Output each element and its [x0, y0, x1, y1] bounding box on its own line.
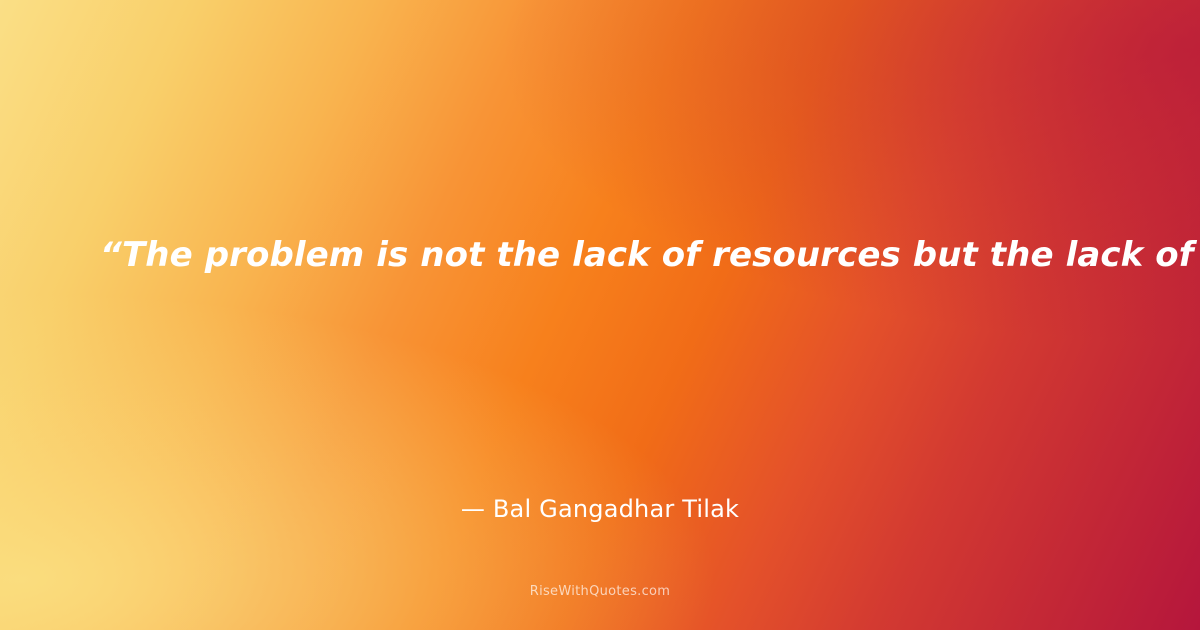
site-watermark: RiseWithQuotes.com — [0, 583, 1200, 601]
quote-card: “The problem is not the lack of resource… — [0, 0, 1200, 630]
quote-content: “The problem is not the lack of resource… — [0, 0, 1200, 630]
quote-text: “The problem is not the lack of resource… — [100, 232, 1100, 278]
quote-attribution: — Bal Gangadhar Tilak — [0, 493, 1200, 525]
